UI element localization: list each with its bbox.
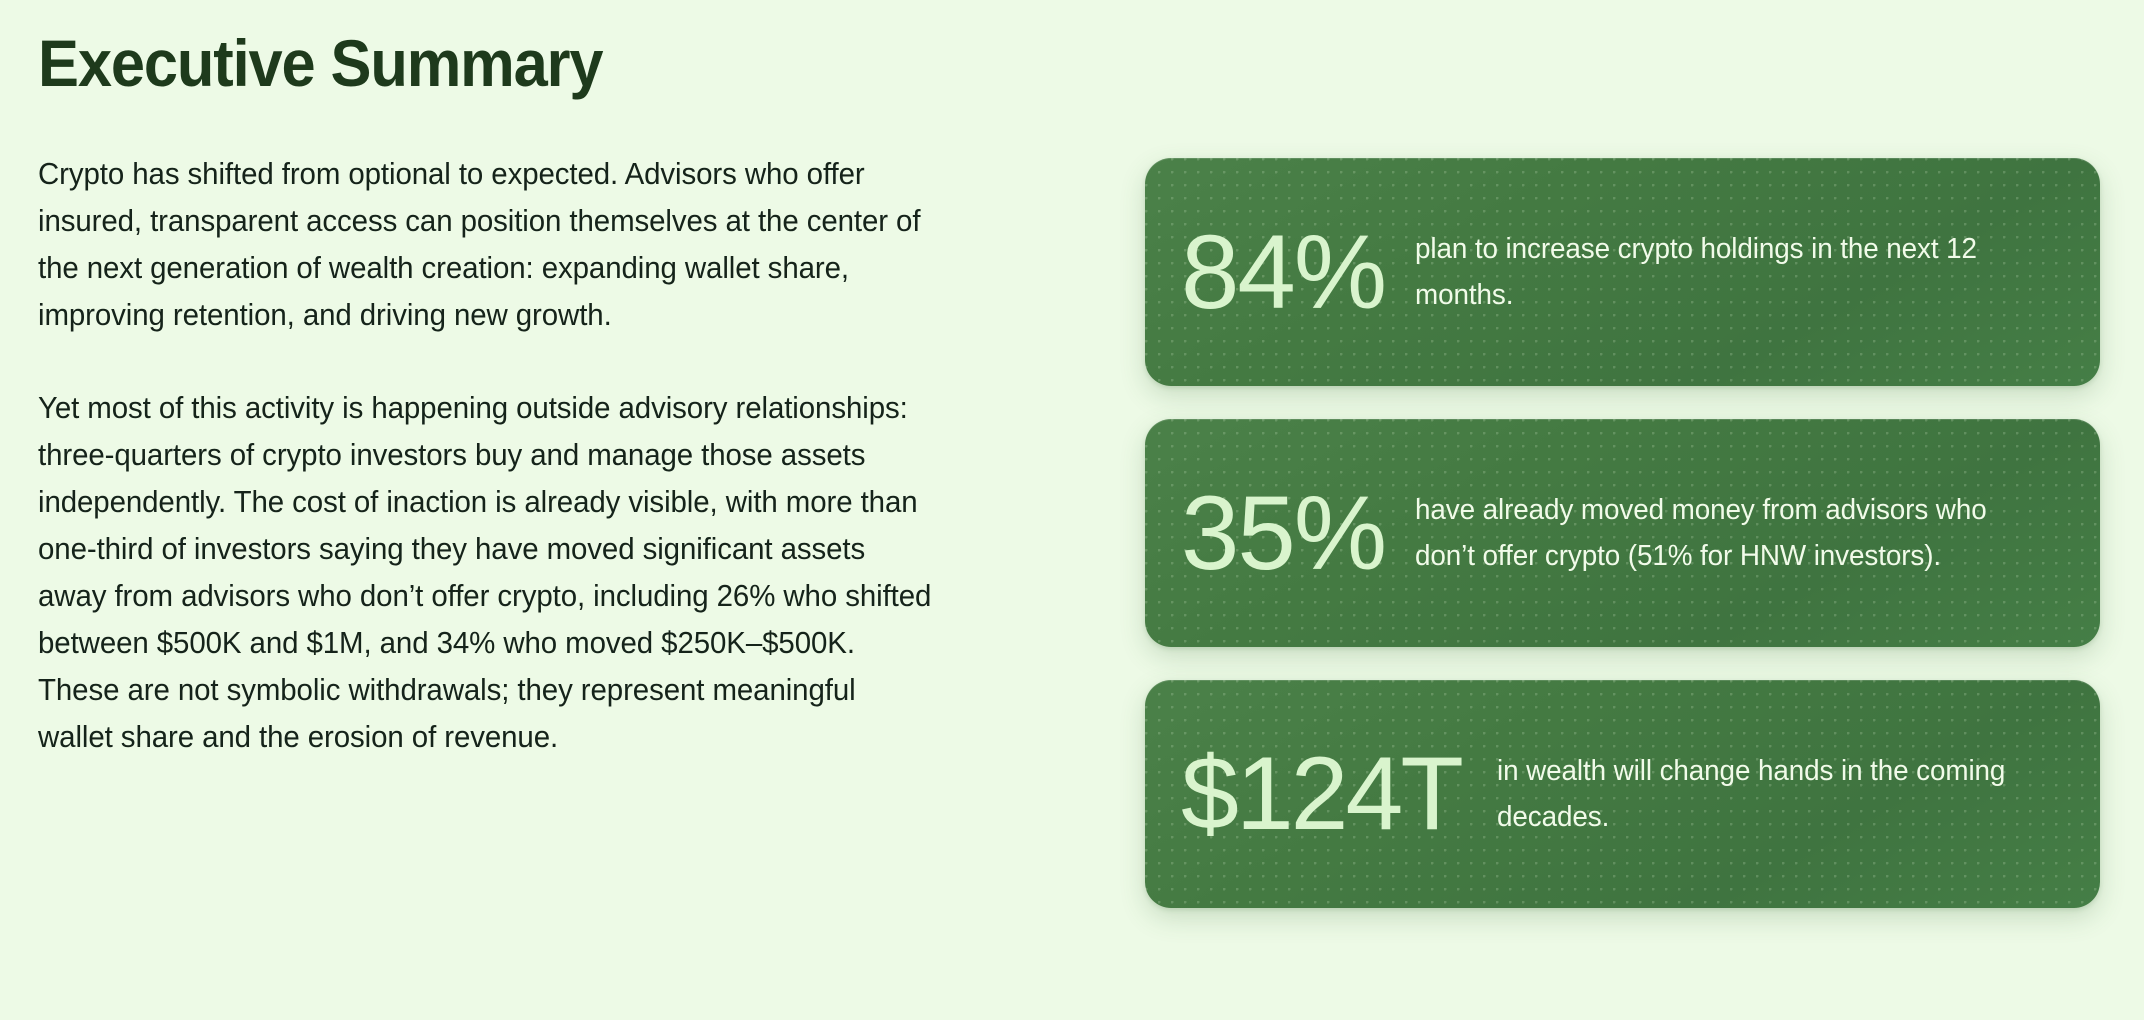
executive-summary-page: Executive Summary Crypto has shifted fro… — [0, 0, 2144, 1020]
stat-card-list: 84% plan to increase crypto holdings in … — [1145, 158, 2100, 908]
stat-value: $124T — [1181, 742, 1461, 846]
summary-paragraph-2: Yet most of this activity is happening o… — [38, 384, 936, 760]
stat-description: plan to increase crypto holdings in the … — [1415, 226, 1981, 318]
stat-description: have already moved money from advisors w… — [1415, 487, 1991, 579]
summary-paragraph-1: Crypto has shifted from optional to expe… — [38, 150, 936, 338]
stat-value: 84% — [1181, 220, 1385, 325]
body-copy: Crypto has shifted from optional to expe… — [38, 150, 938, 760]
stat-card: 35% have already moved money from adviso… — [1145, 419, 2100, 647]
page-title: Executive Summary — [38, 30, 933, 96]
stat-card: 84% plan to increase crypto holdings in … — [1145, 158, 2100, 386]
stat-card: $124T in wealth will change hands in the… — [1145, 680, 2100, 908]
stat-description: in wealth will change hands in the comin… — [1497, 748, 2043, 840]
summary-text-column: Executive Summary Crypto has shifted fro… — [0, 0, 1000, 760]
stat-value: 35% — [1181, 481, 1385, 586]
